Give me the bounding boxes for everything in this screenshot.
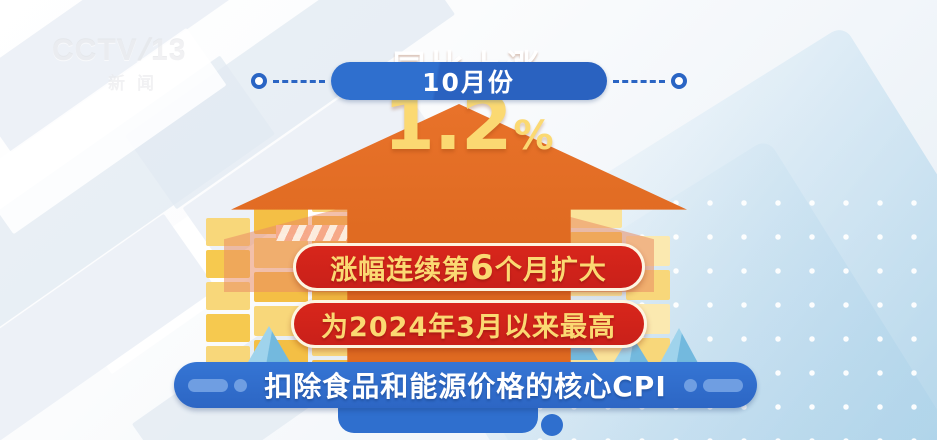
bottom-banner-label: 扣除食品和能源价格的核心CPI xyxy=(264,365,667,405)
arrow-text-block: 同比上涨 1.2 % xyxy=(0,40,937,162)
banner-bar-icon-right xyxy=(703,379,743,392)
highlight-pill-2[interactable]: 为2024年3月以来最高 xyxy=(291,300,647,348)
bottom-banner[interactable]: 扣除食品和能源价格的核心CPI xyxy=(174,362,757,408)
ring-marker-right-icon xyxy=(671,73,687,89)
month-badge[interactable]: 10月份 xyxy=(331,62,607,100)
highlight-emphasis-number: 6 xyxy=(470,248,495,288)
percent-sign: % xyxy=(514,111,554,161)
highlight-pill-1[interactable]: 涨幅连续第6个月扩大 xyxy=(293,243,645,291)
month-badge-row: 10月份 xyxy=(0,62,937,100)
banner-tail-dot xyxy=(541,414,563,436)
diagonal-shape-4 xyxy=(0,214,217,440)
banner-deco-left xyxy=(188,379,247,392)
banner-dot-icon-left xyxy=(234,379,247,392)
month-badge-label: 10月份 xyxy=(422,63,515,99)
broadcast-graphic-stage: CCTV/13 新闻 同比上涨 1.2 % 10月份 涨幅连续第6个月扩大 为2… xyxy=(0,0,937,440)
banner-dot-icon-right xyxy=(684,379,697,392)
ring-marker-left-icon xyxy=(251,73,267,89)
dashed-connector-right xyxy=(613,80,665,83)
highlight-pill-1-label: 涨幅连续第6个月扩大 xyxy=(330,248,607,287)
highlight-pill-2-label: 为2024年3月以来最高 xyxy=(321,305,616,344)
banner-bar-icon-left xyxy=(188,379,228,392)
dashed-connector-left xyxy=(273,80,325,83)
banner-deco-right xyxy=(684,379,743,392)
